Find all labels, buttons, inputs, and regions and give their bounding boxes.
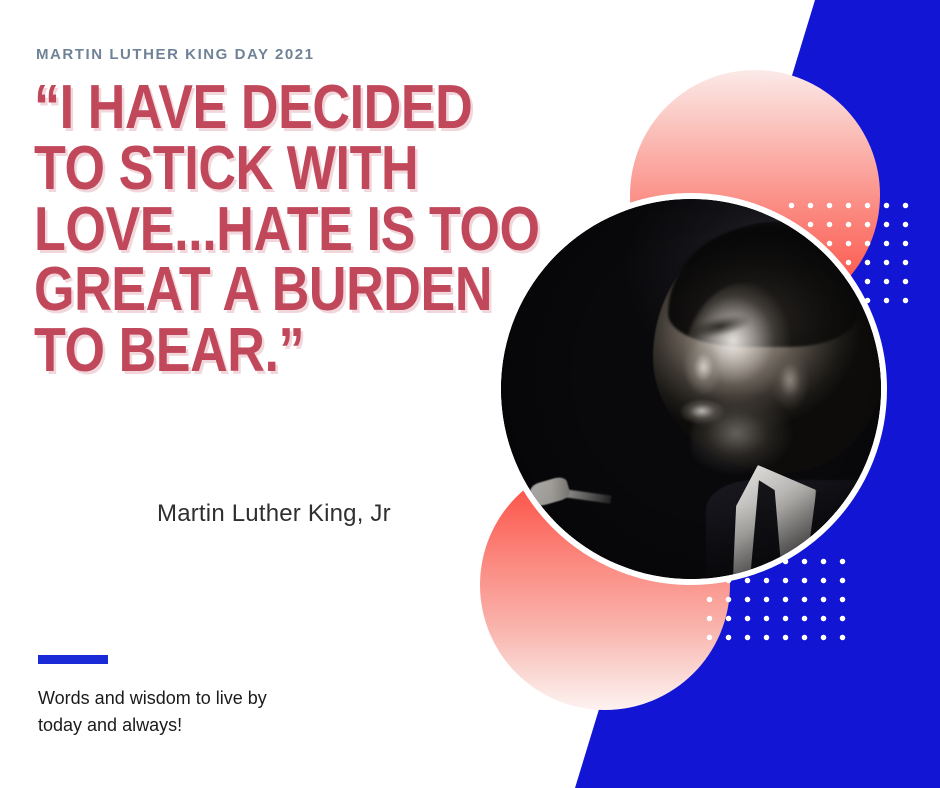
mlk-day-quote-poster: MARTIN LUTHER KING DAY 2021 “I HAVE DECI… [0,0,940,788]
quote-line-3: LOVE...HATE IS TOO [34,200,404,261]
quote-line-2: TO STICK WITH [34,139,404,200]
footnote-line-2: today and always! [38,712,368,739]
quote-line-4: GREAT A BURDEN [34,260,404,321]
quote-line-1: “I HAVE DECIDED [34,78,404,139]
quote-line-5: TO BEAR.” [34,321,404,382]
event-eyebrow-label: MARTIN LUTHER KING DAY 2021 [36,46,315,63]
quote-attribution: Martin Luther King, Jr [157,500,391,528]
portrait-photo [501,199,881,579]
footnote-text-block: Words and wisdom to live by today and al… [38,685,368,739]
blue-divider-rule [38,655,108,664]
footnote-line-1: Words and wisdom to live by [38,685,368,712]
portrait-circle-frame [495,193,887,585]
quote-text-block: “I HAVE DECIDED TO STICK WITH LOVE...HAT… [34,78,404,382]
portrait-vignette [501,199,881,579]
